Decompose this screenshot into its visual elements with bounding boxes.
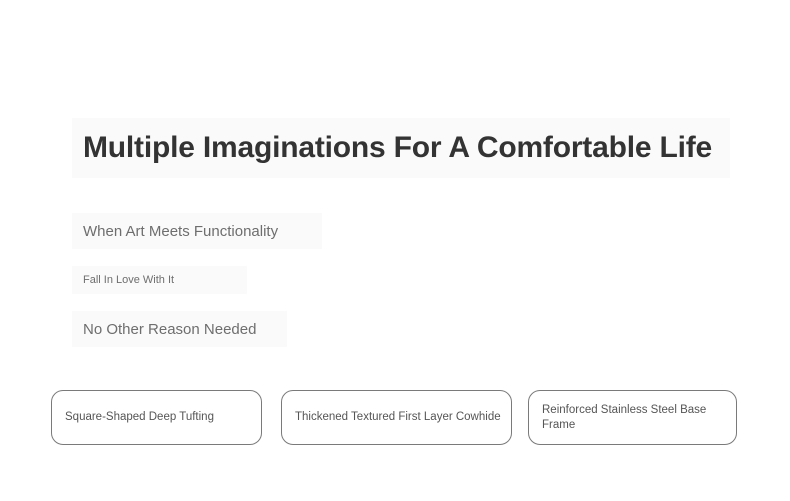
subtitle-block-2: Fall In Love With It	[72, 266, 247, 294]
feature-card-row: Square-Shaped Deep Tufting Thickened Tex…	[51, 390, 737, 445]
subtitle-text-1: When Art Meets Functionality	[72, 223, 278, 240]
page-title: Multiple Imaginations For A Comfortable …	[72, 118, 730, 178]
feature-card-2[interactable]: Thickened Textured First Layer Cowhide	[281, 390, 512, 445]
feature-card-2-label: Thickened Textured First Layer Cowhide	[282, 410, 509, 425]
subtitle-block-3: No Other Reason Needed	[72, 311, 287, 347]
feature-card-3-label: Reinforced Stainless Steel Base Frame	[529, 403, 736, 432]
subtitle-text-3: No Other Reason Needed	[72, 321, 256, 338]
slide-canvas: Multiple Imaginations For A Comfortable …	[0, 0, 790, 501]
subtitle-text-2: Fall In Love With It	[72, 274, 174, 286]
feature-card-3[interactable]: Reinforced Stainless Steel Base Frame	[528, 390, 737, 445]
feature-card-1-label: Square-Shaped Deep Tufting	[52, 410, 222, 425]
page-title-text: Multiple Imaginations For A Comfortable …	[72, 131, 712, 166]
subtitle-block-1: When Art Meets Functionality	[72, 213, 322, 249]
feature-card-1[interactable]: Square-Shaped Deep Tufting	[51, 390, 262, 445]
